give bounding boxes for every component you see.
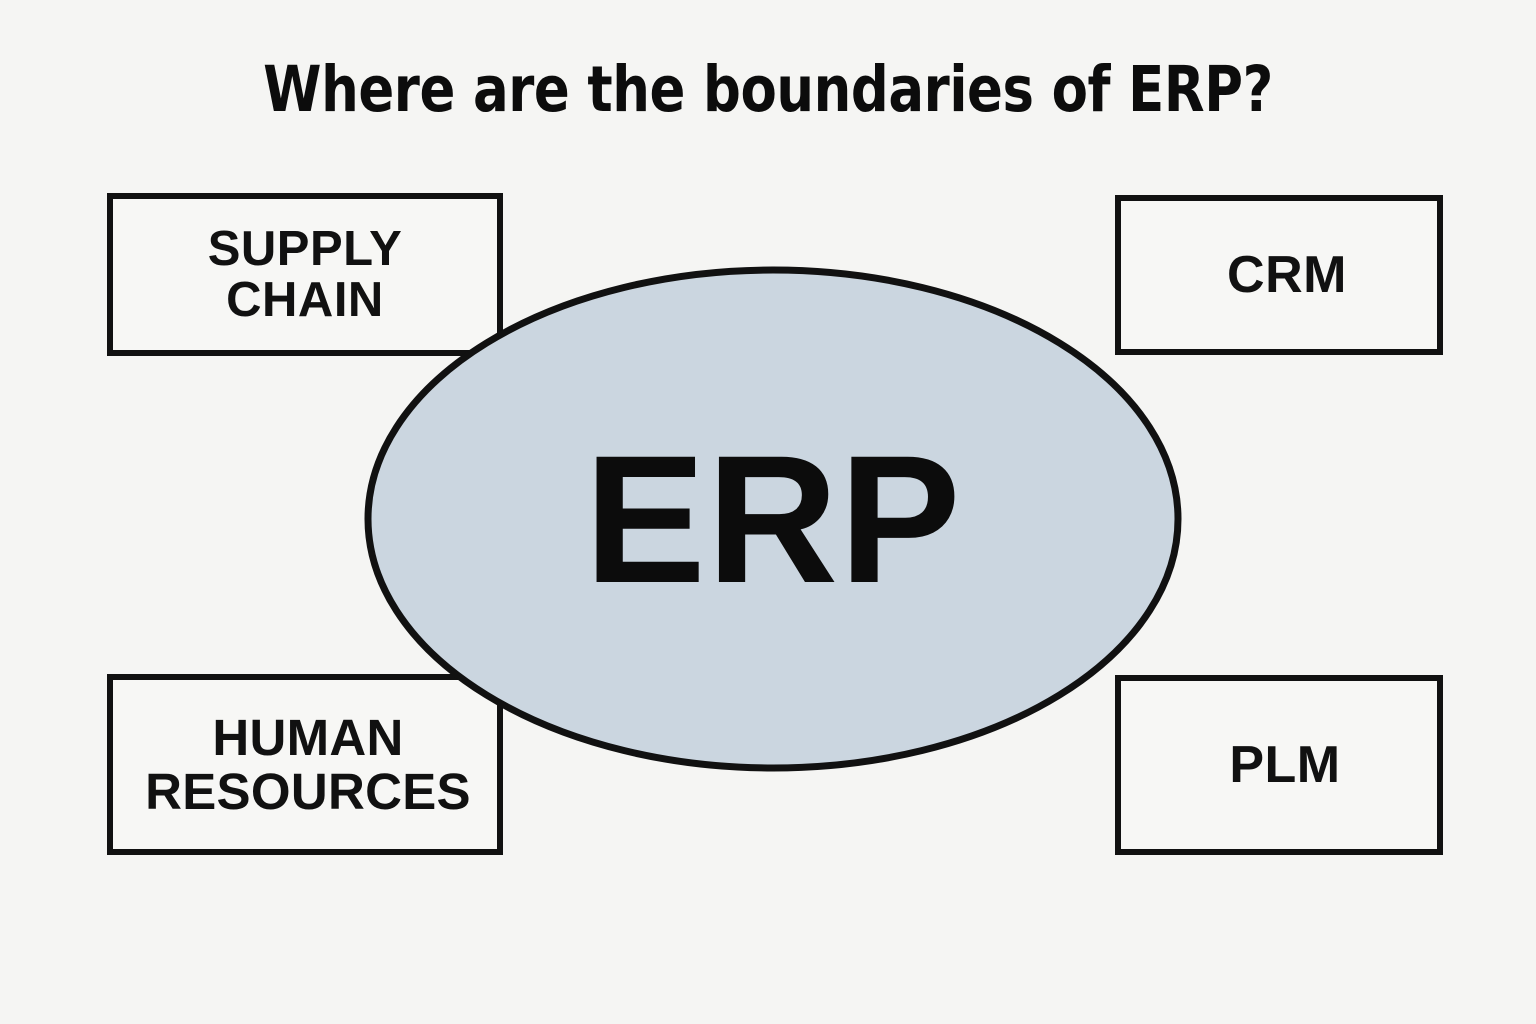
concept-box-label: CRM bbox=[1227, 248, 1347, 302]
erp-center-ellipse[interactable]: ERP bbox=[361, 262, 1185, 776]
page-title: Where are the boundaries of ERP? bbox=[123, 52, 1413, 128]
ellipse-shape bbox=[368, 270, 1178, 768]
concept-box-label: PLM bbox=[1229, 738, 1340, 792]
diagram-canvas: Where are the boundaries of ERP? SUPPLY … bbox=[0, 0, 1536, 1024]
